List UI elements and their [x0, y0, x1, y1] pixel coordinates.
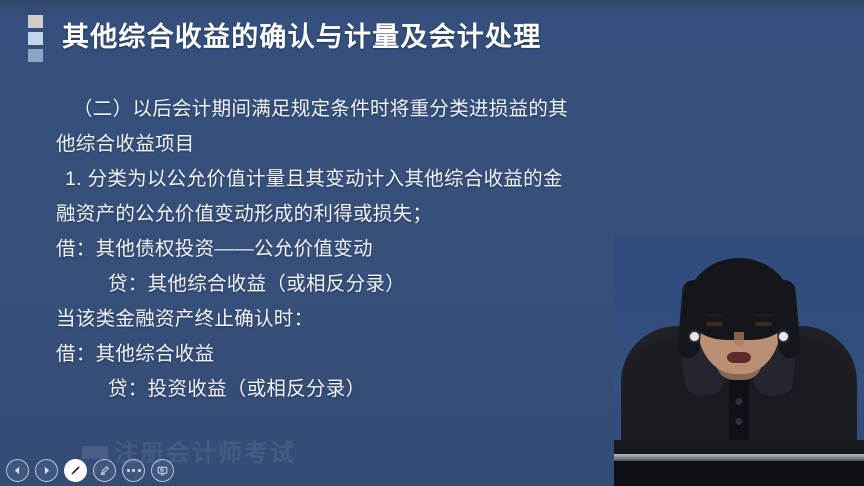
podium-desk — [614, 440, 864, 486]
lecturer-nose — [734, 332, 744, 346]
triangle-right-icon — [40, 464, 53, 477]
slide-body-line: 借：其他债权投资——公允价值变动 — [56, 232, 636, 267]
lecturer-eyebrow-right — [755, 314, 773, 317]
jacket-button-1 — [736, 398, 743, 405]
lecturer-eyebrow-left — [705, 314, 723, 317]
highlighter-button[interactable] — [93, 459, 116, 482]
slide-body-line: 当该类金融资产终止确认时： — [56, 302, 636, 337]
page-title: 其他综合收益的确认与计量及会计处理 — [62, 24, 541, 51]
title-marker-square-2 — [28, 32, 43, 45]
slide-body: （二）以后会计期间满足规定条件时将重分类进损益的其他综合收益项目1. 分类为以公… — [56, 92, 636, 407]
present-screen-button[interactable] — [151, 459, 174, 482]
slide-body-line: 贷：其他综合收益（或相反分录） — [56, 267, 636, 302]
next-slide-button[interactable] — [35, 459, 58, 482]
lecturer-video-overlay[interactable] — [614, 236, 864, 486]
more-options-button[interactable] — [122, 459, 145, 482]
lecturer-eye-left — [706, 322, 723, 326]
title-marker-square-1 — [28, 15, 43, 28]
lecturer-earring-left — [690, 332, 699, 341]
video-player: 其他综合收益的确认与计量及会计处理 （二）以后会计期间满足规定条件时将重分类进损… — [0, 0, 864, 486]
screen-icon — [156, 464, 169, 477]
triangle-left-icon — [11, 464, 24, 477]
slide-body-line: 融资产的公允价值变动形成的利得或损失； — [56, 197, 636, 232]
pen-annotation-button[interactable] — [64, 459, 87, 482]
title-marker-square-3 — [28, 49, 43, 62]
lecturer-eye-right — [755, 322, 772, 326]
lecturer-mouth — [727, 352, 751, 363]
watermark-badge — [82, 446, 108, 459]
player-control-bar — [6, 459, 174, 482]
lecturer-earring-right — [779, 332, 788, 341]
slide-body-line: 贷：投资收益（或相反分录） — [56, 372, 636, 407]
slide-body-line: 借：其他综合收益 — [56, 337, 636, 372]
previous-slide-button[interactable] — [6, 459, 29, 482]
slide-body-line: 他综合收益项目 — [56, 127, 636, 162]
title-marker-squares — [28, 15, 43, 62]
pen-icon — [69, 464, 82, 477]
highlighter-icon — [98, 464, 111, 477]
slide-title-row: 其他综合收益的确认与计量及会计处理 — [28, 13, 541, 62]
slide-top-band — [0, 0, 864, 5]
ellipsis-icon — [127, 469, 141, 472]
jacket-button-2 — [736, 418, 743, 425]
slide-body-line: （二）以后会计期间满足规定条件时将重分类进损益的其 — [56, 92, 636, 127]
slide-body-line: 1. 分类为以公允价值计量且其变动计入其他综合收益的金 — [56, 162, 636, 197]
